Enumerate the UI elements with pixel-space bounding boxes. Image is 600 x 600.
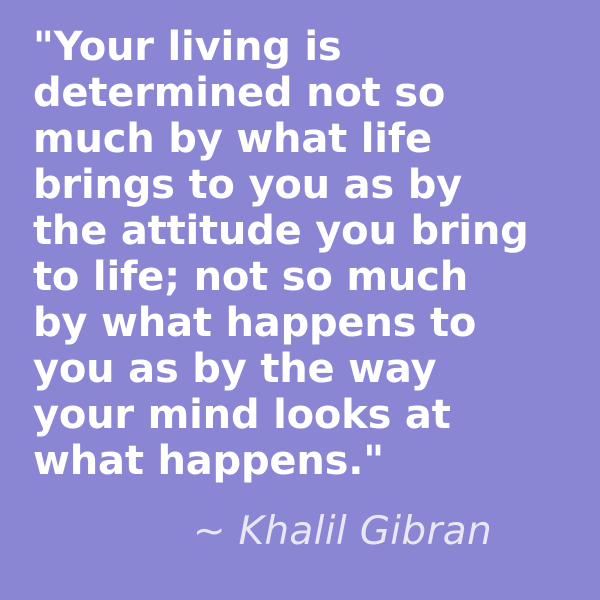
quote-line: determined not so bbox=[33, 70, 593, 116]
quote-attribution: ~ Khalil Gibran bbox=[33, 508, 492, 556]
quote-line: to life; not so much bbox=[33, 254, 593, 300]
quote-line: you as by the way bbox=[33, 346, 593, 392]
quote-line: much by what life bbox=[33, 116, 593, 162]
quote-card: "Your living is determined not so much b… bbox=[0, 0, 600, 600]
quote-line: the attitude you bring bbox=[33, 208, 593, 254]
quote-line: by what happens to bbox=[33, 300, 593, 346]
quote-line: brings to you as by bbox=[33, 162, 593, 208]
quote-line: what happens." bbox=[33, 438, 593, 484]
quote-line: your mind looks at bbox=[33, 392, 593, 438]
quote-line: "Your living is bbox=[33, 24, 593, 70]
quote-text-block: "Your living is determined not so much b… bbox=[33, 24, 593, 484]
